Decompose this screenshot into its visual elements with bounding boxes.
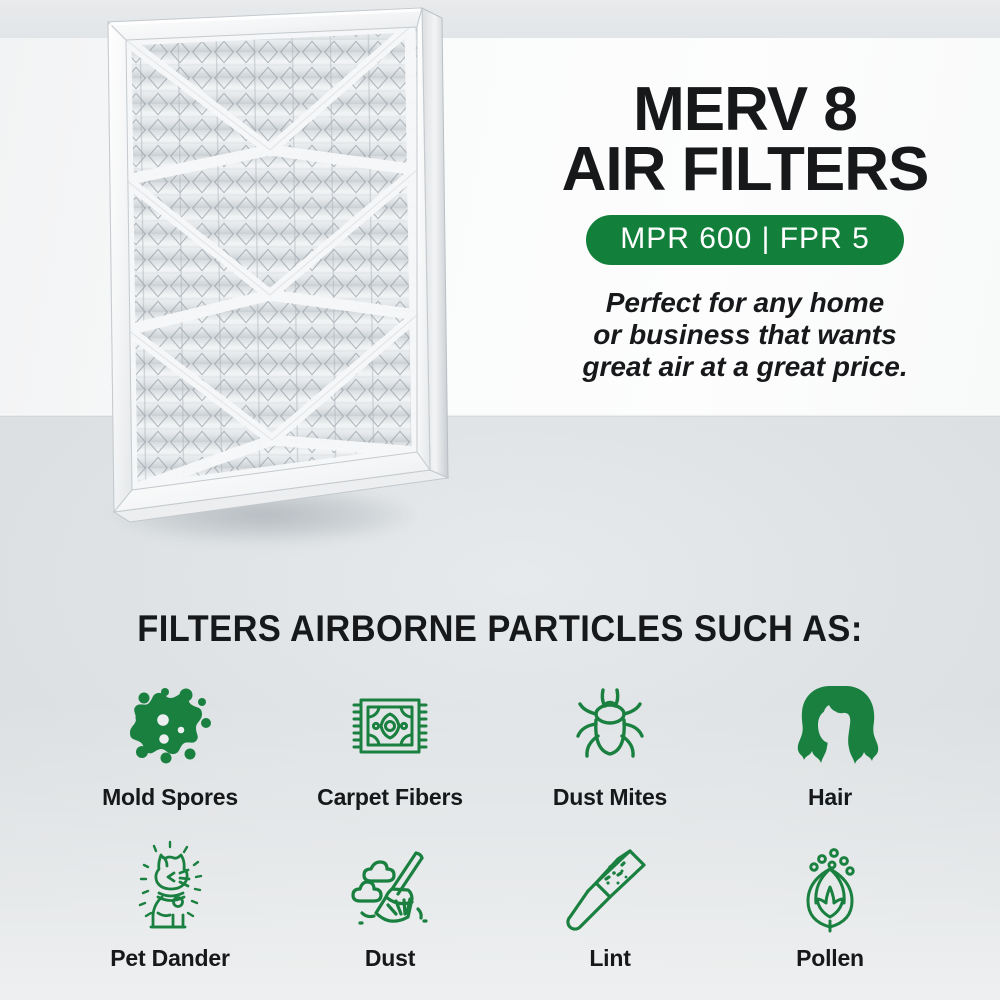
- carpet-fibers-icon: [338, 676, 442, 776]
- particle-label: Lint: [589, 945, 630, 972]
- particle-label: Carpet Fibers: [317, 784, 463, 811]
- particle-label: Dust: [365, 945, 415, 972]
- particle-item-pet-dander: Pet Dander: [60, 833, 280, 972]
- headline-line-1: MERV 8: [500, 80, 990, 140]
- particle-label: Hair: [808, 784, 852, 811]
- rating-badge: MPR 600 | FPR 5: [586, 215, 904, 265]
- particle-item-hair: Hair: [720, 672, 940, 811]
- particle-item-dust-mites: Dust Mites: [500, 672, 720, 811]
- pet-dander-icon: [118, 837, 222, 937]
- particle-label: Pet Dander: [110, 945, 229, 972]
- particle-label: Mold Spores: [102, 784, 238, 811]
- mold-spores-icon: [118, 676, 222, 776]
- particle-item-dust: Dust: [280, 833, 500, 972]
- particles-grid: Mold Spores: [60, 672, 940, 972]
- particle-item-lint: Lint: [500, 833, 720, 972]
- tagline-line-3: great air at a great price.: [500, 351, 990, 383]
- hair-icon: [778, 676, 882, 776]
- pleated-air-filter-illustration: [70, 0, 470, 590]
- particle-item-carpet-fibers: Carpet Fibers: [280, 672, 500, 811]
- tagline-line-2: or business that wants: [500, 319, 990, 351]
- particle-item-mold-spores: Mold Spores: [60, 672, 280, 811]
- hero-text-block: MERV 8 AIR FILTERS MPR 600 | FPR 5 Perfe…: [500, 80, 990, 383]
- dust-mite-icon: [558, 676, 662, 776]
- particle-item-pollen: Pollen: [720, 833, 940, 972]
- product-photo: [70, 0, 470, 590]
- tagline-line-1: Perfect for any home: [500, 287, 990, 319]
- tagline: Perfect for any home or business that wa…: [500, 287, 990, 383]
- headline-line-2: AIR FILTERS: [500, 140, 990, 200]
- particles-section-title: FILTERS AIRBORNE PARTICLES SUCH AS:: [35, 608, 965, 650]
- pollen-flower-icon: [778, 837, 882, 937]
- dust-broom-icon: [338, 837, 442, 937]
- lint-roller-icon: [558, 837, 662, 937]
- promo-image: MERV 8 AIR FILTERS MPR 600 | FPR 5 Perfe…: [0, 0, 1000, 1000]
- particle-label: Pollen: [796, 945, 864, 972]
- particle-label: Dust Mites: [553, 784, 667, 811]
